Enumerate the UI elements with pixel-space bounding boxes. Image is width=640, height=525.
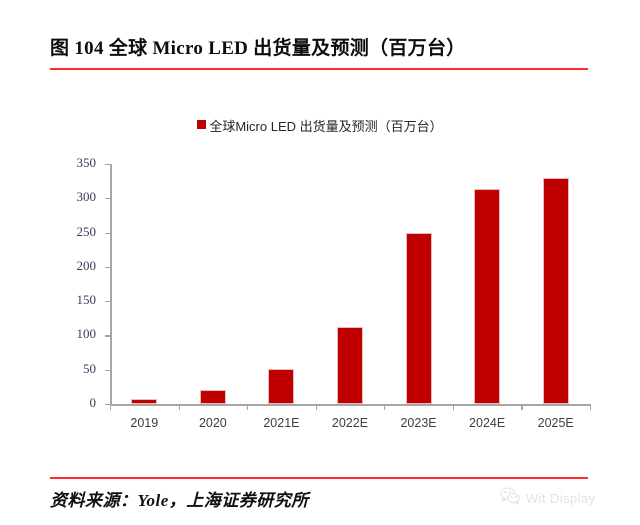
y-tick-label: 350 [62, 155, 96, 171]
x-axis-line [110, 404, 590, 406]
y-tick-label: 100 [62, 326, 96, 342]
x-label-2022E: 2022E [316, 416, 385, 430]
y-tick-label: 50 [62, 361, 96, 377]
y-tick-label: 300 [62, 189, 96, 205]
x-tick [179, 404, 180, 410]
x-label-2021E: 2021E [247, 416, 316, 430]
bar-2024E[interactable] [474, 189, 500, 404]
y-tick-300: 300 [105, 198, 110, 199]
plot-area: 050100150200250300350 201920202021E2022E… [110, 164, 590, 404]
bar-2025E[interactable] [543, 178, 569, 404]
y-tick-100: 100 [105, 335, 110, 336]
x-tick [453, 404, 454, 410]
chart-legend: 全球Micro LED 出货量及预测（百万台） [0, 116, 640, 135]
footer-divider [50, 477, 588, 479]
x-tick [110, 404, 111, 410]
y-tick-250: 250 [105, 233, 110, 234]
bar-2022E[interactable] [337, 327, 363, 404]
bar-2021E[interactable] [268, 369, 294, 404]
x-tick [590, 404, 591, 410]
watermark-label: Wit Display [526, 491, 595, 506]
y-tick-350: 350 [105, 164, 110, 165]
y-tick-label: 150 [62, 292, 96, 308]
bar-chart: 全球Micro LED 出货量及预测（百万台） 0501001502002503… [0, 90, 640, 450]
x-tick [247, 404, 248, 410]
bar-2019[interactable] [131, 399, 157, 404]
x-label-2024E: 2024E [453, 416, 522, 430]
wechat-logo-icon [500, 487, 520, 510]
bar-2023E[interactable] [406, 233, 432, 404]
title-block: 图 104 全球 Micro LED 出货量及预测（百万台） [50, 36, 588, 70]
x-label-2025E: 2025E [521, 416, 590, 430]
y-tick-label: 250 [62, 224, 96, 240]
y-tick-150: 150 [105, 301, 110, 302]
title-divider [50, 68, 588, 70]
y-tick-label: 0 [62, 395, 96, 411]
x-label-2019: 2019 [110, 416, 179, 430]
legend-swatch-icon [197, 120, 206, 129]
y-tick-200: 200 [105, 267, 110, 268]
bar-2020[interactable] [200, 390, 226, 404]
y-axis-line [110, 164, 112, 404]
page-title: 图 104 全球 Micro LED 出货量及预测（百万台） [50, 36, 588, 62]
x-tick [521, 404, 522, 410]
x-tick [316, 404, 317, 410]
y-tick-50: 50 [105, 370, 110, 371]
x-label-2020: 2020 [179, 416, 248, 430]
watermark: Wit Display [500, 487, 595, 510]
y-tick-label: 200 [62, 258, 96, 274]
x-tick [384, 404, 385, 410]
x-label-2023E: 2023E [384, 416, 453, 430]
legend-label: 全球Micro LED 出货量及预测（百万台） [209, 116, 442, 135]
